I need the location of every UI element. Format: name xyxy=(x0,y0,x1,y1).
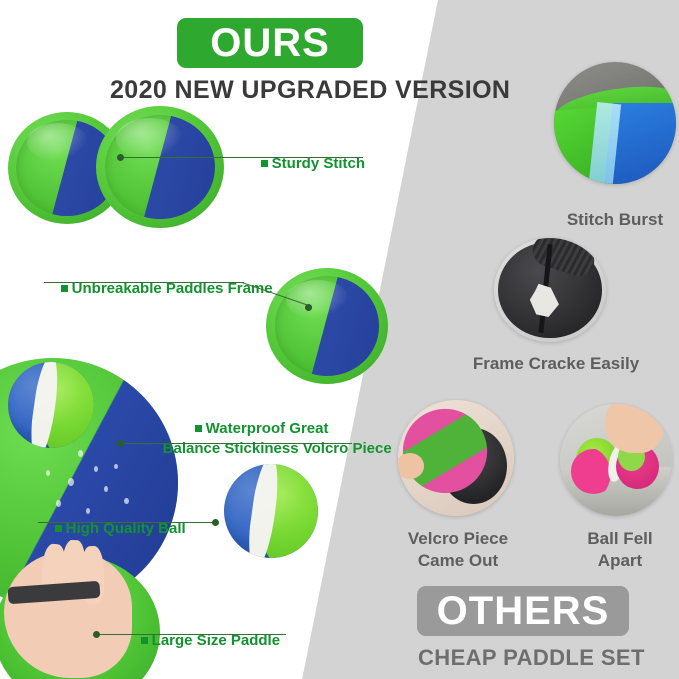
paddle-frame-sample xyxy=(266,268,388,384)
photo-velcro-came-out xyxy=(398,400,514,516)
annotation-underline xyxy=(38,522,214,523)
water-droplet xyxy=(104,486,108,492)
tennis-ball-standalone xyxy=(224,464,318,558)
ball-texture xyxy=(224,464,318,558)
ball-texture xyxy=(8,362,94,448)
caption-stitch-burst: Stitch Burst xyxy=(540,209,679,231)
photo-content xyxy=(494,238,606,342)
photo-stitch-burst xyxy=(554,62,676,184)
photo-ball-fell-apart xyxy=(560,404,672,516)
water-droplet xyxy=(46,470,50,476)
annotation-underline xyxy=(96,634,286,635)
square-bullet-icon xyxy=(61,285,68,292)
photo-content xyxy=(560,404,672,516)
annotation-waterproof-velcro-line2: Balance Stickiness Volcro Piece xyxy=(146,420,392,477)
water-droplet xyxy=(68,478,74,486)
annotation-high-quality-ball: High Quality Ball xyxy=(38,500,186,557)
water-droplet xyxy=(114,464,118,469)
caption-velcro-came-out: Velcro Piece Came Out xyxy=(380,528,536,572)
annotation-underline xyxy=(44,282,244,283)
ours-badge: OURS xyxy=(177,18,363,68)
annotation-sturdy-stitch: Sturdy Stitch xyxy=(244,135,365,192)
annotation-large-size-paddle: Large Size Paddle xyxy=(124,612,280,669)
photo-content xyxy=(554,62,676,184)
hand-holding-ball xyxy=(605,404,663,453)
leader-dot xyxy=(93,631,100,638)
square-bullet-icon xyxy=(141,637,148,644)
others-subtitle: CHEAP PADDLE SET xyxy=(418,645,645,671)
caption-frame-cracked: Frame Cracke Easily xyxy=(440,353,672,375)
paddle-highlight xyxy=(116,118,183,159)
annotation-unbreakable-frame: Unbreakable Paddles Frame xyxy=(44,260,273,317)
tennis-ball-on-paddle xyxy=(8,362,94,448)
square-bullet-icon xyxy=(55,525,62,532)
leader-dot xyxy=(117,154,124,161)
leader-dot xyxy=(212,519,219,526)
ours-subtitle: 2020 NEW UPGRADED VERSION xyxy=(110,76,510,105)
leader-dot xyxy=(117,440,124,447)
photo-frame-cracked xyxy=(494,238,606,342)
others-badge: OTHERS xyxy=(417,586,629,636)
annotation-underline xyxy=(120,157,363,158)
hand-thumb xyxy=(398,453,424,479)
caption-ball-fell-apart: Ball Fell Apart xyxy=(558,528,679,572)
square-bullet-icon xyxy=(261,160,268,167)
leader-dot xyxy=(305,304,312,311)
photo-content xyxy=(398,400,514,516)
water-droplet xyxy=(94,466,98,472)
paddle-front-right xyxy=(96,106,224,228)
water-droplet xyxy=(78,450,83,457)
annotation-underline xyxy=(120,443,352,444)
comparison-infographic: OURS 2020 NEW UPGRADED VERSION xyxy=(0,0,679,679)
